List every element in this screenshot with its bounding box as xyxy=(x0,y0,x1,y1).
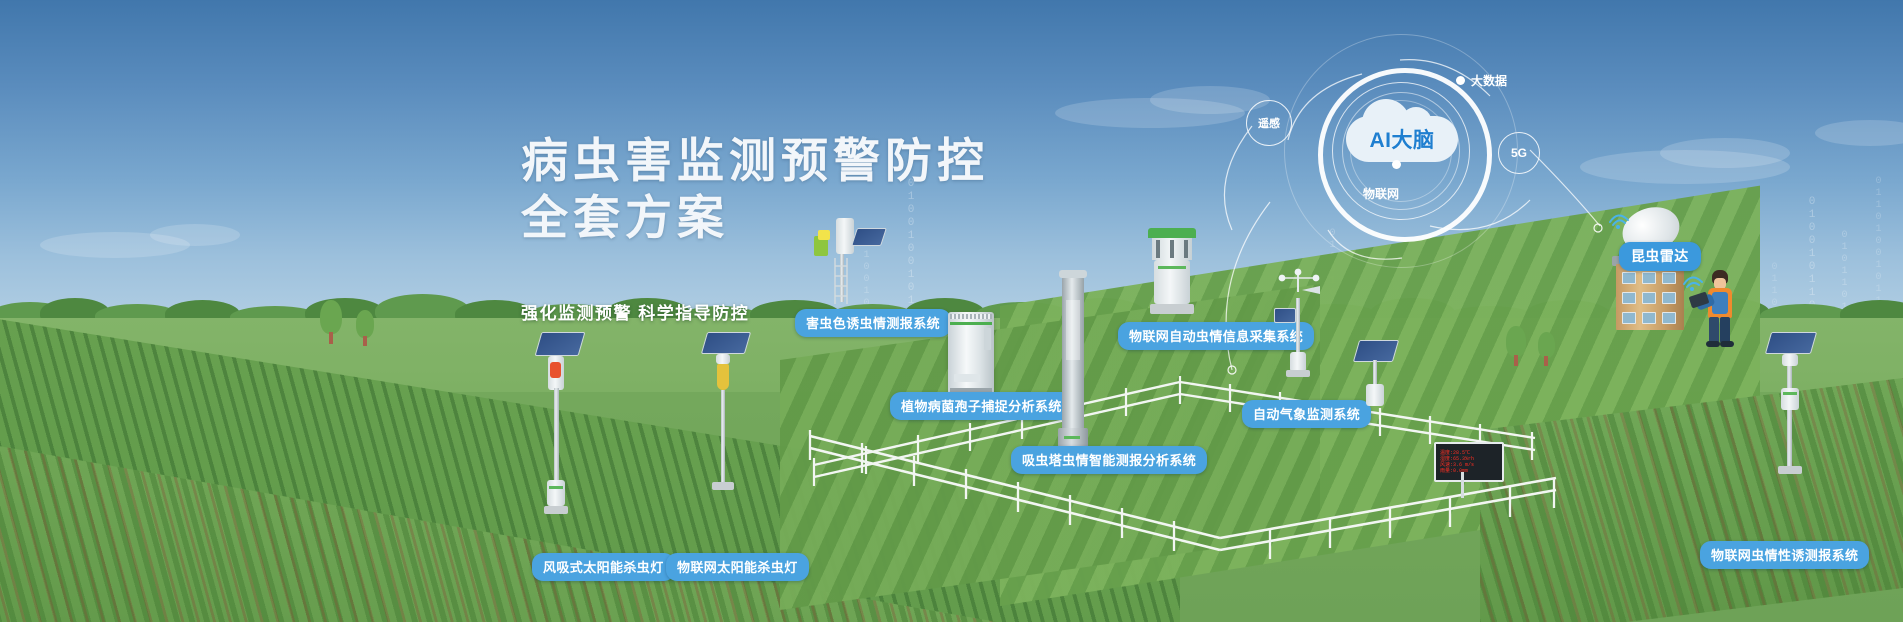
title-line-2: 全套方案 xyxy=(521,189,989,246)
led-row: 温度:28.5℃ xyxy=(1440,451,1498,456)
wifi-icon xyxy=(1680,266,1708,292)
led-row: 湿度:65.3%rh xyxy=(1440,457,1498,462)
cloud-shape xyxy=(150,224,240,246)
ai-brain-label: AI大脑 xyxy=(1346,116,1458,162)
equipment-automatic-weather-station xyxy=(1272,268,1328,378)
equipment-solar-panel-unit xyxy=(1356,340,1402,410)
farmer-shoe xyxy=(1720,341,1734,347)
badge-iot-solar-insect-lamp[interactable]: 物联网太阳能杀虫灯 xyxy=(666,553,809,581)
node-remote-sensing[interactable]: 遥感 xyxy=(1246,100,1292,146)
led-display-board: 温度:28.5℃ 湿度:65.3%rh 风速:3.6 m/s 雨量:0.0mm xyxy=(1434,442,1504,482)
farmer-figure xyxy=(1698,270,1748,350)
badge-color-lure-pest-forecast-system[interactable]: 害虫色诱虫情测报系统 xyxy=(795,309,951,337)
page-subtitle: 强化监测预警 科学指导防控 xyxy=(521,299,749,324)
farmer-leg xyxy=(1720,317,1730,343)
node-5g[interactable]: 5G xyxy=(1498,132,1540,174)
node-label: 5G xyxy=(1511,146,1527,160)
page-title: 病虫害监测预警防控 全套方案 xyxy=(521,132,989,246)
led-board-pole xyxy=(1461,472,1464,498)
equipment-iot-pest-info-collector xyxy=(1140,228,1210,323)
equipment-iot-solar-insect-lamp xyxy=(700,330,760,530)
anemometer-icon xyxy=(1272,268,1328,302)
tree-icon xyxy=(356,310,374,346)
equipment-iot-pheromone-forecast-system xyxy=(1760,330,1824,510)
tree-icon xyxy=(1538,332,1555,366)
cloud-shape xyxy=(1660,138,1790,168)
tree-icon xyxy=(1506,326,1526,366)
farmer-shoe xyxy=(1706,341,1720,347)
led-row: 风速:3.6 m/s xyxy=(1440,463,1498,468)
wifi-icon xyxy=(1604,200,1634,230)
badge-automatic-weather-monitoring-system[interactable]: 自动气象监测系统 xyxy=(1242,400,1371,428)
node-label: 遥感 xyxy=(1258,115,1280,131)
led-row: 雨量:0.0mm xyxy=(1440,469,1498,474)
node-dot-bigdata xyxy=(1456,76,1465,85)
badge-iot-pheromone-forecast-system[interactable]: 物联网虫情性诱测报系统 xyxy=(1700,541,1869,569)
badge-suction-tower-forecast-system[interactable]: 吸虫塔虫情智能测报分析系统 xyxy=(1011,446,1207,474)
badge-spore-capture-analysis-system[interactable]: 植物病菌孢子捕捉分析系统 xyxy=(890,392,1073,420)
title-line-1: 病虫害监测预警防控 xyxy=(521,132,989,189)
equipment-wind-suction-solar-insect-lamp xyxy=(530,330,600,545)
tree-icon xyxy=(320,300,342,344)
ladder-icon xyxy=(830,258,854,304)
node-bigdata-label: 大数据 xyxy=(1471,72,1507,89)
equipment-spore-capture-cabinet xyxy=(948,312,994,396)
node-iot-label: 物联网 xyxy=(1363,185,1399,202)
farmer-leg xyxy=(1709,317,1719,343)
badge-wind-suction-solar-insect-lamp[interactable]: 风吸式太阳能杀虫灯 xyxy=(532,553,675,581)
pest-monitoring-banner: 010010010110 0100101 01001011101 0100101… xyxy=(0,0,1903,622)
equipment-color-lure-pest-forecast-system xyxy=(810,218,890,308)
equipment-insect-suction-tower xyxy=(1062,276,1084,452)
